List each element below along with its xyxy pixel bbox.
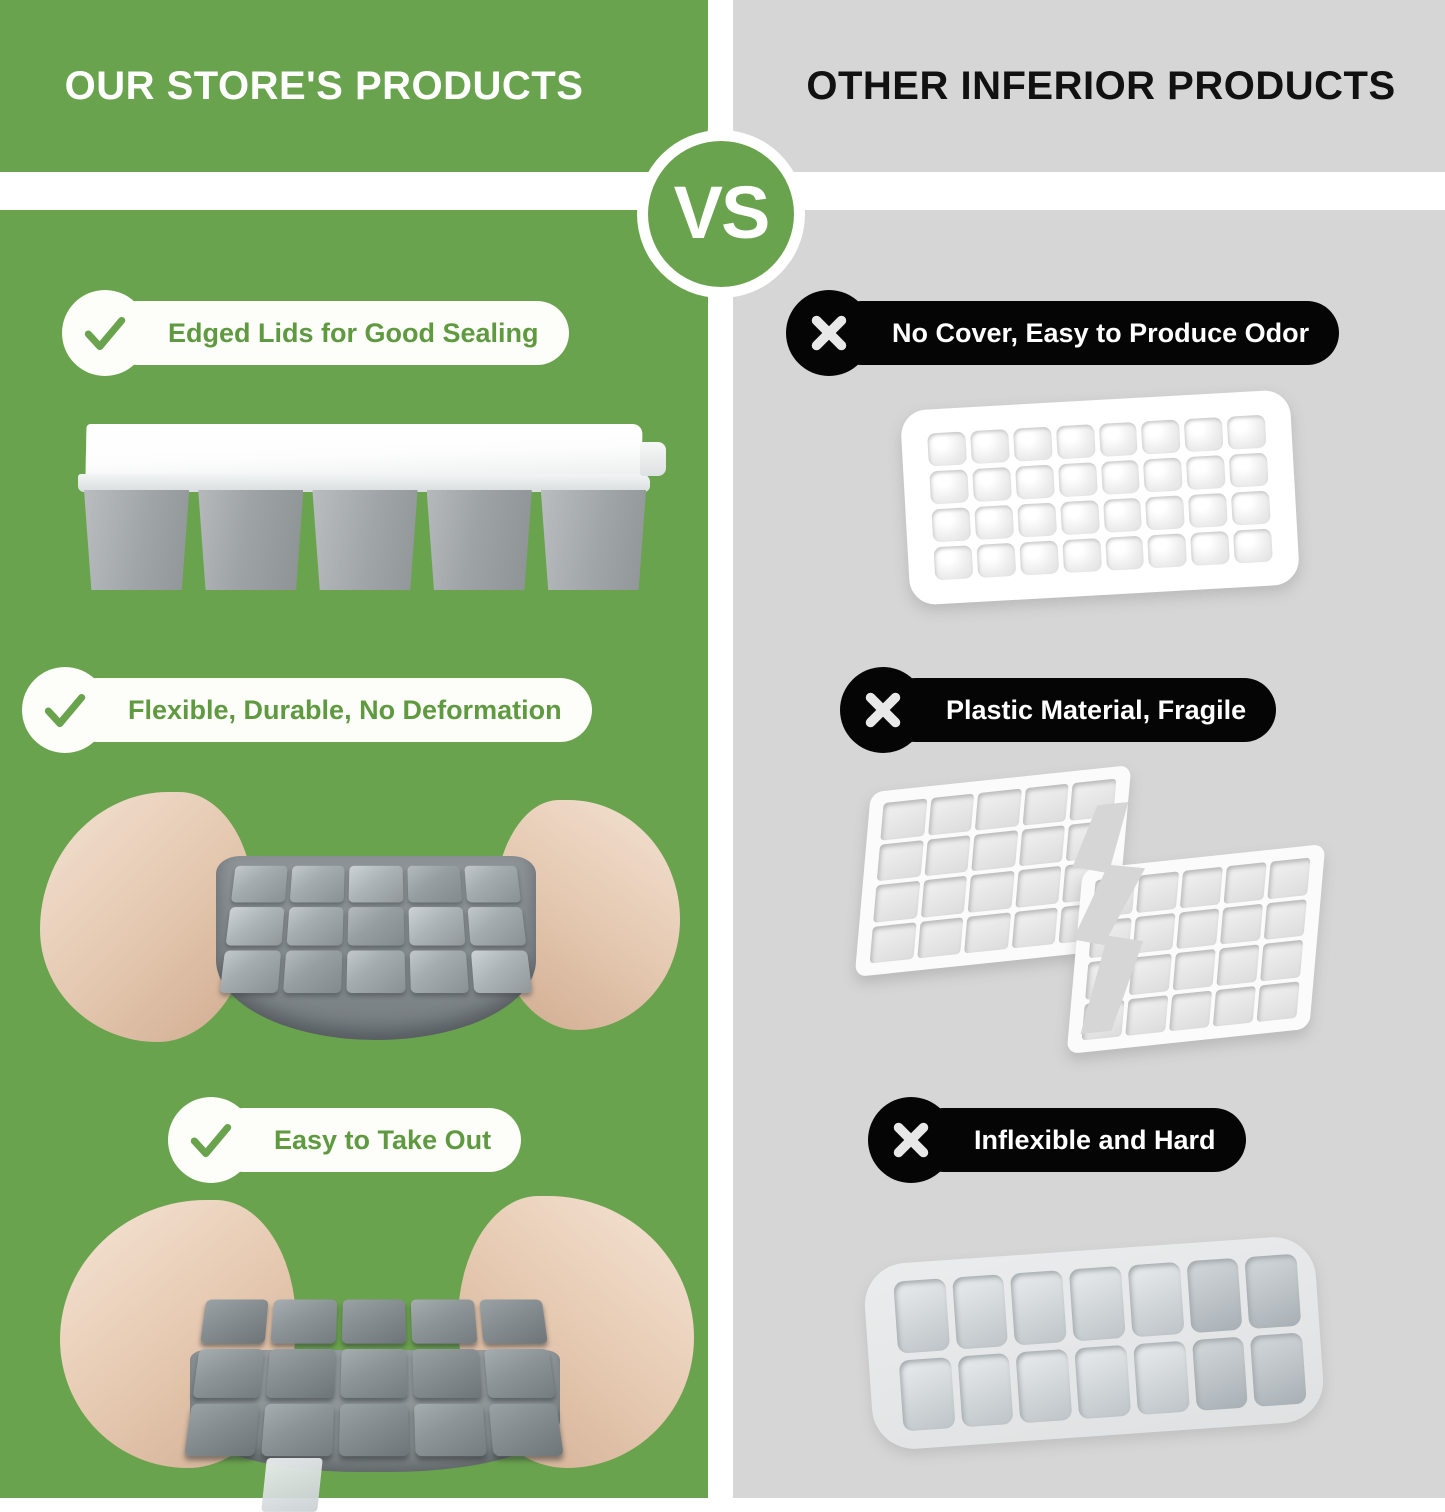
cavity: [975, 789, 1022, 831]
cube: [414, 1403, 486, 1456]
feature-label: Flexible, Durable, No Deformation: [66, 695, 588, 726]
cube: [348, 907, 404, 946]
cavity: [1224, 862, 1267, 903]
cavity: [1133, 1340, 1190, 1415]
cavity: [1260, 940, 1303, 981]
tray-compartment: [84, 490, 189, 590]
feature-label: Edged Lids for Good Sealing: [106, 318, 565, 349]
cube: [226, 907, 285, 946]
product-image-flexing-tray: [40, 786, 680, 1062]
cavity: [1227, 415, 1267, 450]
cavity: [1186, 1258, 1243, 1333]
cavity: [971, 830, 1018, 872]
cavity: [1062, 538, 1102, 573]
product-image-broken-tray: [858, 780, 1318, 1050]
silicone-tray-cubes: [220, 866, 533, 993]
cavity: [1245, 1254, 1302, 1329]
check-icon: [168, 1097, 254, 1183]
cavity: [873, 881, 920, 923]
cavity: [1013, 427, 1053, 462]
cavity: [927, 431, 967, 466]
cavity: [1056, 424, 1096, 459]
cavity: [1250, 1332, 1307, 1407]
product-image-rigid-tray: [862, 1234, 1326, 1451]
x-icon: [840, 667, 926, 753]
cavity: [1145, 495, 1185, 530]
cavity: [870, 922, 917, 964]
cube: [220, 951, 282, 993]
cube: [471, 951, 533, 993]
cavity: [1169, 990, 1212, 1031]
cavity: [1186, 455, 1226, 490]
rigid-tray-cavities: [893, 1254, 1306, 1432]
cube: [408, 907, 465, 946]
cube: [484, 1349, 556, 1397]
cavity: [1022, 784, 1069, 826]
feature-label: No Cover, Easy to Produce Odor: [830, 318, 1335, 349]
right-column-title: OTHER INFERIOR PRODUCTS: [733, 0, 1445, 172]
pill-bar: Edged Lids for Good Sealing: [106, 301, 569, 365]
cavity: [899, 1357, 956, 1432]
cube: [488, 1403, 563, 1456]
product-image-lidded-tray: [70, 424, 660, 594]
x-icon: [868, 1097, 954, 1183]
cavity: [1229, 453, 1269, 488]
released-ice-cube: [261, 1458, 323, 1512]
cube: [271, 1300, 337, 1344]
cavity: [974, 505, 1014, 540]
cavity: [964, 912, 1011, 954]
cavity: [877, 840, 924, 882]
cavity: [972, 467, 1012, 502]
cavity: [1101, 460, 1141, 495]
cavity: [921, 876, 968, 918]
tray-compartment: [312, 490, 417, 590]
cube: [411, 1300, 477, 1344]
cavity: [1213, 985, 1256, 1026]
plastic-tray-cavities: [927, 415, 1273, 581]
pill-bar: Easy to Take Out: [212, 1108, 521, 1172]
feature-pill-good-1: Edged Lids for Good Sealing: [62, 301, 569, 365]
cavity: [1173, 949, 1216, 990]
cavity: [924, 835, 971, 877]
pill-bar: Flexible, Durable, No Deformation: [66, 678, 592, 742]
cavity: [1192, 1336, 1249, 1411]
cavity: [1128, 1262, 1185, 1337]
cavity: [1190, 531, 1230, 566]
pill-bar: Inflexible and Hard: [912, 1108, 1246, 1172]
cavity: [1019, 540, 1059, 575]
cube: [340, 1349, 408, 1397]
product-image-uncovered-tray: [900, 389, 1300, 605]
feature-pill-bad-1: No Cover, Easy to Produce Odor: [786, 301, 1339, 365]
cavity: [1231, 491, 1271, 526]
cavity: [893, 1278, 950, 1353]
cube: [347, 951, 405, 993]
cavity: [1188, 493, 1228, 528]
cavity: [952, 1274, 1009, 1349]
cavity: [976, 543, 1016, 578]
cube: [193, 1349, 265, 1397]
feature-pill-bad-3: Inflexible and Hard: [868, 1108, 1246, 1172]
product-image-push-out-cubes: [68, 1200, 684, 1490]
cube: [464, 866, 521, 902]
tray-compartment: [427, 490, 532, 590]
cavity: [1257, 981, 1300, 1022]
pill-bar: Plastic Material, Fragile: [884, 678, 1276, 742]
pill-bar: No Cover, Easy to Produce Odor: [830, 301, 1339, 365]
cavity: [1264, 899, 1307, 940]
cavity: [1143, 457, 1183, 492]
cavity: [970, 429, 1010, 464]
cavity: [1058, 462, 1098, 497]
cavity: [1148, 533, 1188, 568]
cavity: [1136, 871, 1179, 912]
tray-lid-top: [85, 424, 642, 478]
vs-badge: VS: [637, 130, 805, 298]
cavity: [1125, 995, 1168, 1036]
cavity: [934, 545, 974, 580]
cube: [261, 1403, 333, 1456]
tray-lid-tab: [640, 442, 666, 476]
feature-pill-good-3: Easy to Take Out: [168, 1108, 521, 1172]
feature-label: Plastic Material, Fragile: [884, 695, 1272, 726]
cube: [200, 1300, 269, 1344]
cavity: [957, 1352, 1014, 1427]
cube: [407, 866, 462, 902]
cube: [479, 1300, 548, 1344]
cavity: [1019, 825, 1066, 867]
cavity: [1098, 422, 1138, 457]
cube: [409, 951, 468, 993]
cavity: [1105, 536, 1145, 571]
vs-label: VS: [637, 130, 805, 298]
tray-compartment: [198, 490, 303, 590]
cavity: [1010, 1270, 1067, 1345]
cube: [283, 951, 342, 993]
cavity: [1017, 503, 1057, 538]
cavity: [880, 799, 927, 841]
cavity: [1267, 858, 1310, 899]
cavity: [968, 871, 1015, 913]
cube: [339, 1403, 410, 1456]
cavity: [1184, 417, 1224, 452]
cavity: [1060, 500, 1100, 535]
cavity: [929, 469, 969, 504]
cavity: [1103, 498, 1143, 533]
cube: [290, 866, 345, 902]
feature-label: Inflexible and Hard: [912, 1125, 1242, 1156]
cavity: [917, 917, 964, 959]
tray-compartments: [84, 490, 646, 594]
cube: [266, 1349, 335, 1397]
cube: [342, 1300, 407, 1344]
check-icon: [22, 667, 108, 753]
cavity: [1016, 1348, 1073, 1423]
cavity: [1220, 903, 1263, 944]
cavity: [1015, 465, 1055, 500]
cavity: [1069, 1266, 1126, 1341]
cavity: [1015, 866, 1062, 908]
silicone-tray-cubes: [184, 1300, 563, 1457]
check-icon: [62, 290, 148, 376]
cavity: [1012, 907, 1059, 949]
cavity: [1216, 944, 1259, 985]
cavity: [928, 794, 975, 836]
cube: [467, 907, 526, 946]
cavity: [1176, 908, 1219, 949]
x-icon: [786, 290, 872, 376]
cavity: [1074, 1344, 1131, 1419]
cube: [287, 907, 344, 946]
cube: [349, 866, 403, 902]
cavity: [1141, 419, 1181, 454]
cube: [231, 866, 288, 902]
cavity: [931, 507, 971, 542]
left-column-title: OUR STORE'S PRODUCTS: [0, 0, 708, 172]
cube: [412, 1349, 481, 1397]
feature-label: Easy to Take Out: [212, 1125, 517, 1156]
feature-pill-good-2: Flexible, Durable, No Deformation: [22, 678, 592, 742]
cavity: [1233, 529, 1273, 564]
tray-compartment: [541, 490, 646, 590]
cube: [184, 1403, 259, 1456]
feature-pill-bad-2: Plastic Material, Fragile: [840, 678, 1276, 742]
cavity: [1180, 867, 1223, 908]
